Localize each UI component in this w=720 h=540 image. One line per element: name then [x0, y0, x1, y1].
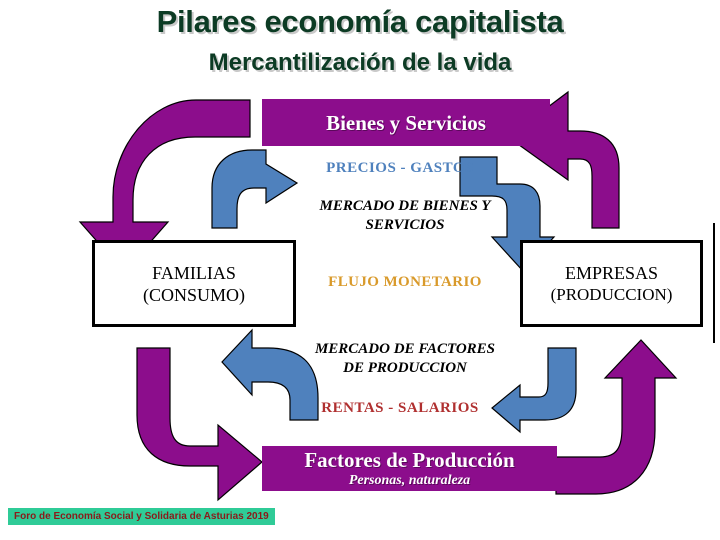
box-familias-line2: (CONSUMO): [143, 284, 245, 306]
box-empresas-line2: (PRODUCCION): [551, 284, 673, 306]
box-familias-line1: FAMILIAS: [152, 262, 236, 284]
label-precios-gastos: PRECIOS - GASTOS: [250, 160, 550, 177]
arrow-bottom-left-purple: [137, 348, 262, 500]
label-mercado-de-bienes-y-servicios: MERCADO DE BIENES Y SERVICIOS: [310, 197, 500, 235]
label-rentas-salarios: RENTAS - SALARIOS: [250, 400, 550, 417]
box-factores-de-produccion: Factores de Producción Personas, natural…: [262, 446, 557, 491]
box-empresas-line1: EMPRESAS: [565, 262, 658, 284]
arrow-bottom-right-blue: [492, 348, 576, 432]
box-factores-sublabel: Personas, naturaleza: [349, 472, 470, 489]
slide-canvas: Pilares economía capitalista Mercantiliz…: [0, 0, 720, 540]
label-mercado-de-factores-de-produccion: MERCADO DE FACTORES DE PRODUCCION: [310, 340, 500, 378]
label-flujo-monetario: FLUJO MONETARIO: [300, 274, 510, 291]
page-title: Pilares economía capitalista: [0, 4, 720, 40]
arrow-bottom-right-purple: [556, 340, 676, 494]
footer-badge: Foro de Economía Social y Solidaria de A…: [8, 508, 275, 525]
box-factores-label: Factores de Producción: [304, 449, 514, 472]
box-bienes-y-servicios: Bienes y Servicios: [262, 99, 550, 146]
box-bienes-label: Bienes y Servicios: [326, 111, 486, 135]
box-empresas: EMPRESAS (PRODUCCION): [520, 240, 703, 327]
page-subtitle: Mercantilización de la vida: [0, 48, 720, 77]
right-edge-rule: [713, 223, 715, 343]
box-familias: FAMILIAS (CONSUMO): [92, 240, 296, 327]
